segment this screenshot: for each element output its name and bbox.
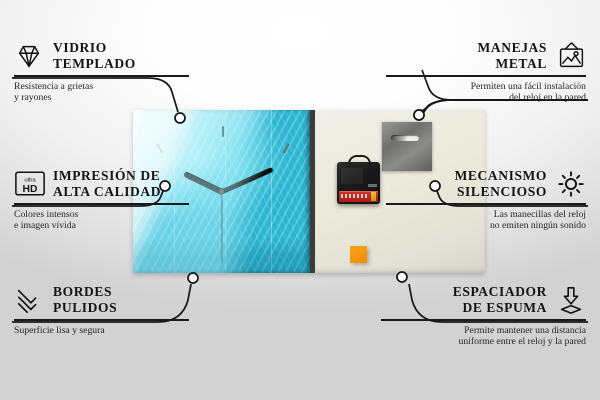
feature-desc-line1: Las manecillas del reloj: [494, 209, 586, 220]
feature-desc-line1: Superficie lisa y segura: [14, 325, 105, 336]
svg-text:HD: HD: [23, 183, 38, 194]
feature-rule: [14, 319, 189, 321]
hanging-frame-icon: [556, 41, 586, 71]
feature-desc-line2: no emiten ningún sonido: [490, 220, 586, 231]
feature-title-line1: BORDES: [53, 284, 112, 299]
metal-hanger-plate: [382, 122, 432, 171]
battery-compartment: [339, 191, 378, 202]
feature-title-line1: ESPACIADOR: [453, 284, 547, 299]
feature-rule: [14, 203, 189, 205]
feature-bordes-pulidos: BORDES PULIDOS Superficie lisa y segura: [14, 284, 189, 336]
feature-mecanismo-silencioso: MECANISMO SILENCIOSO Las manecillas del …: [386, 168, 586, 232]
feature-desc-line2: y rayones: [14, 92, 51, 103]
feature-desc-line1: Permite mantener una distancia: [464, 325, 586, 336]
feature-rule: [381, 319, 586, 321]
clock-hub: [219, 189, 224, 194]
feature-manejas-metal: MANEJAS METAL Permiten una fácil instala…: [386, 40, 586, 104]
feature-desc-line1: Resistencia a grietas: [14, 81, 93, 92]
feature-title-line2: SILENCIOSO: [457, 184, 547, 199]
down-arrow-spacer-icon: [556, 285, 586, 315]
feature-vidrio-templado: VIDRIO TEMPLADO Resistencia a grietas y …: [14, 40, 189, 104]
feature-title-line1: VIDRIO: [53, 40, 107, 55]
feature-title-line2: ALTA CALIDAD: [53, 184, 161, 199]
feature-desc-line1: Permiten una fácil instalación: [471, 81, 586, 92]
feature-desc-line2: uniforme entre el reloj y la pared: [459, 336, 587, 347]
polished-edges-icon: [14, 285, 44, 315]
second-hand: [221, 192, 222, 262]
feature-impresion-alta-calidad: ultra HD IMPRESIÓN DE ALTA CALIDAD Color…: [14, 168, 189, 232]
feature-title-line2: PULIDOS: [53, 300, 117, 315]
feature-title-line2: METAL: [495, 56, 547, 71]
feature-title-line2: TEMPLADO: [53, 56, 136, 71]
svg-text:ultra: ultra: [24, 177, 36, 183]
feature-title-line2: DE ESPUMA: [462, 300, 547, 315]
feature-desc-line2: e imagen vívida: [14, 220, 76, 231]
feature-rule: [386, 75, 586, 77]
feature-title-line1: IMPRESIÓN DE: [53, 168, 160, 183]
foam-spacer: [350, 246, 367, 263]
ultra-hd-icon: ultra HD: [14, 169, 44, 199]
feature-rule: [386, 203, 586, 205]
feature-desc-line2: del reloj en la pared: [509, 92, 586, 103]
gear-icon: [556, 169, 586, 199]
feature-desc-line1: Colores intensos: [14, 209, 78, 220]
diamond-icon: [14, 41, 44, 71]
clock-mechanism: [337, 162, 380, 204]
infographic-canvas: VIDRIO TEMPLADO Resistencia a grietas y …: [0, 0, 600, 400]
feature-espaciador-espuma: ESPACIADOR DE ESPUMA Permite mantener un…: [381, 284, 586, 348]
feature-rule: [14, 75, 189, 77]
feature-title-line1: MANEJAS: [478, 40, 547, 55]
feature-title-line1: MECANISMO: [455, 168, 547, 183]
